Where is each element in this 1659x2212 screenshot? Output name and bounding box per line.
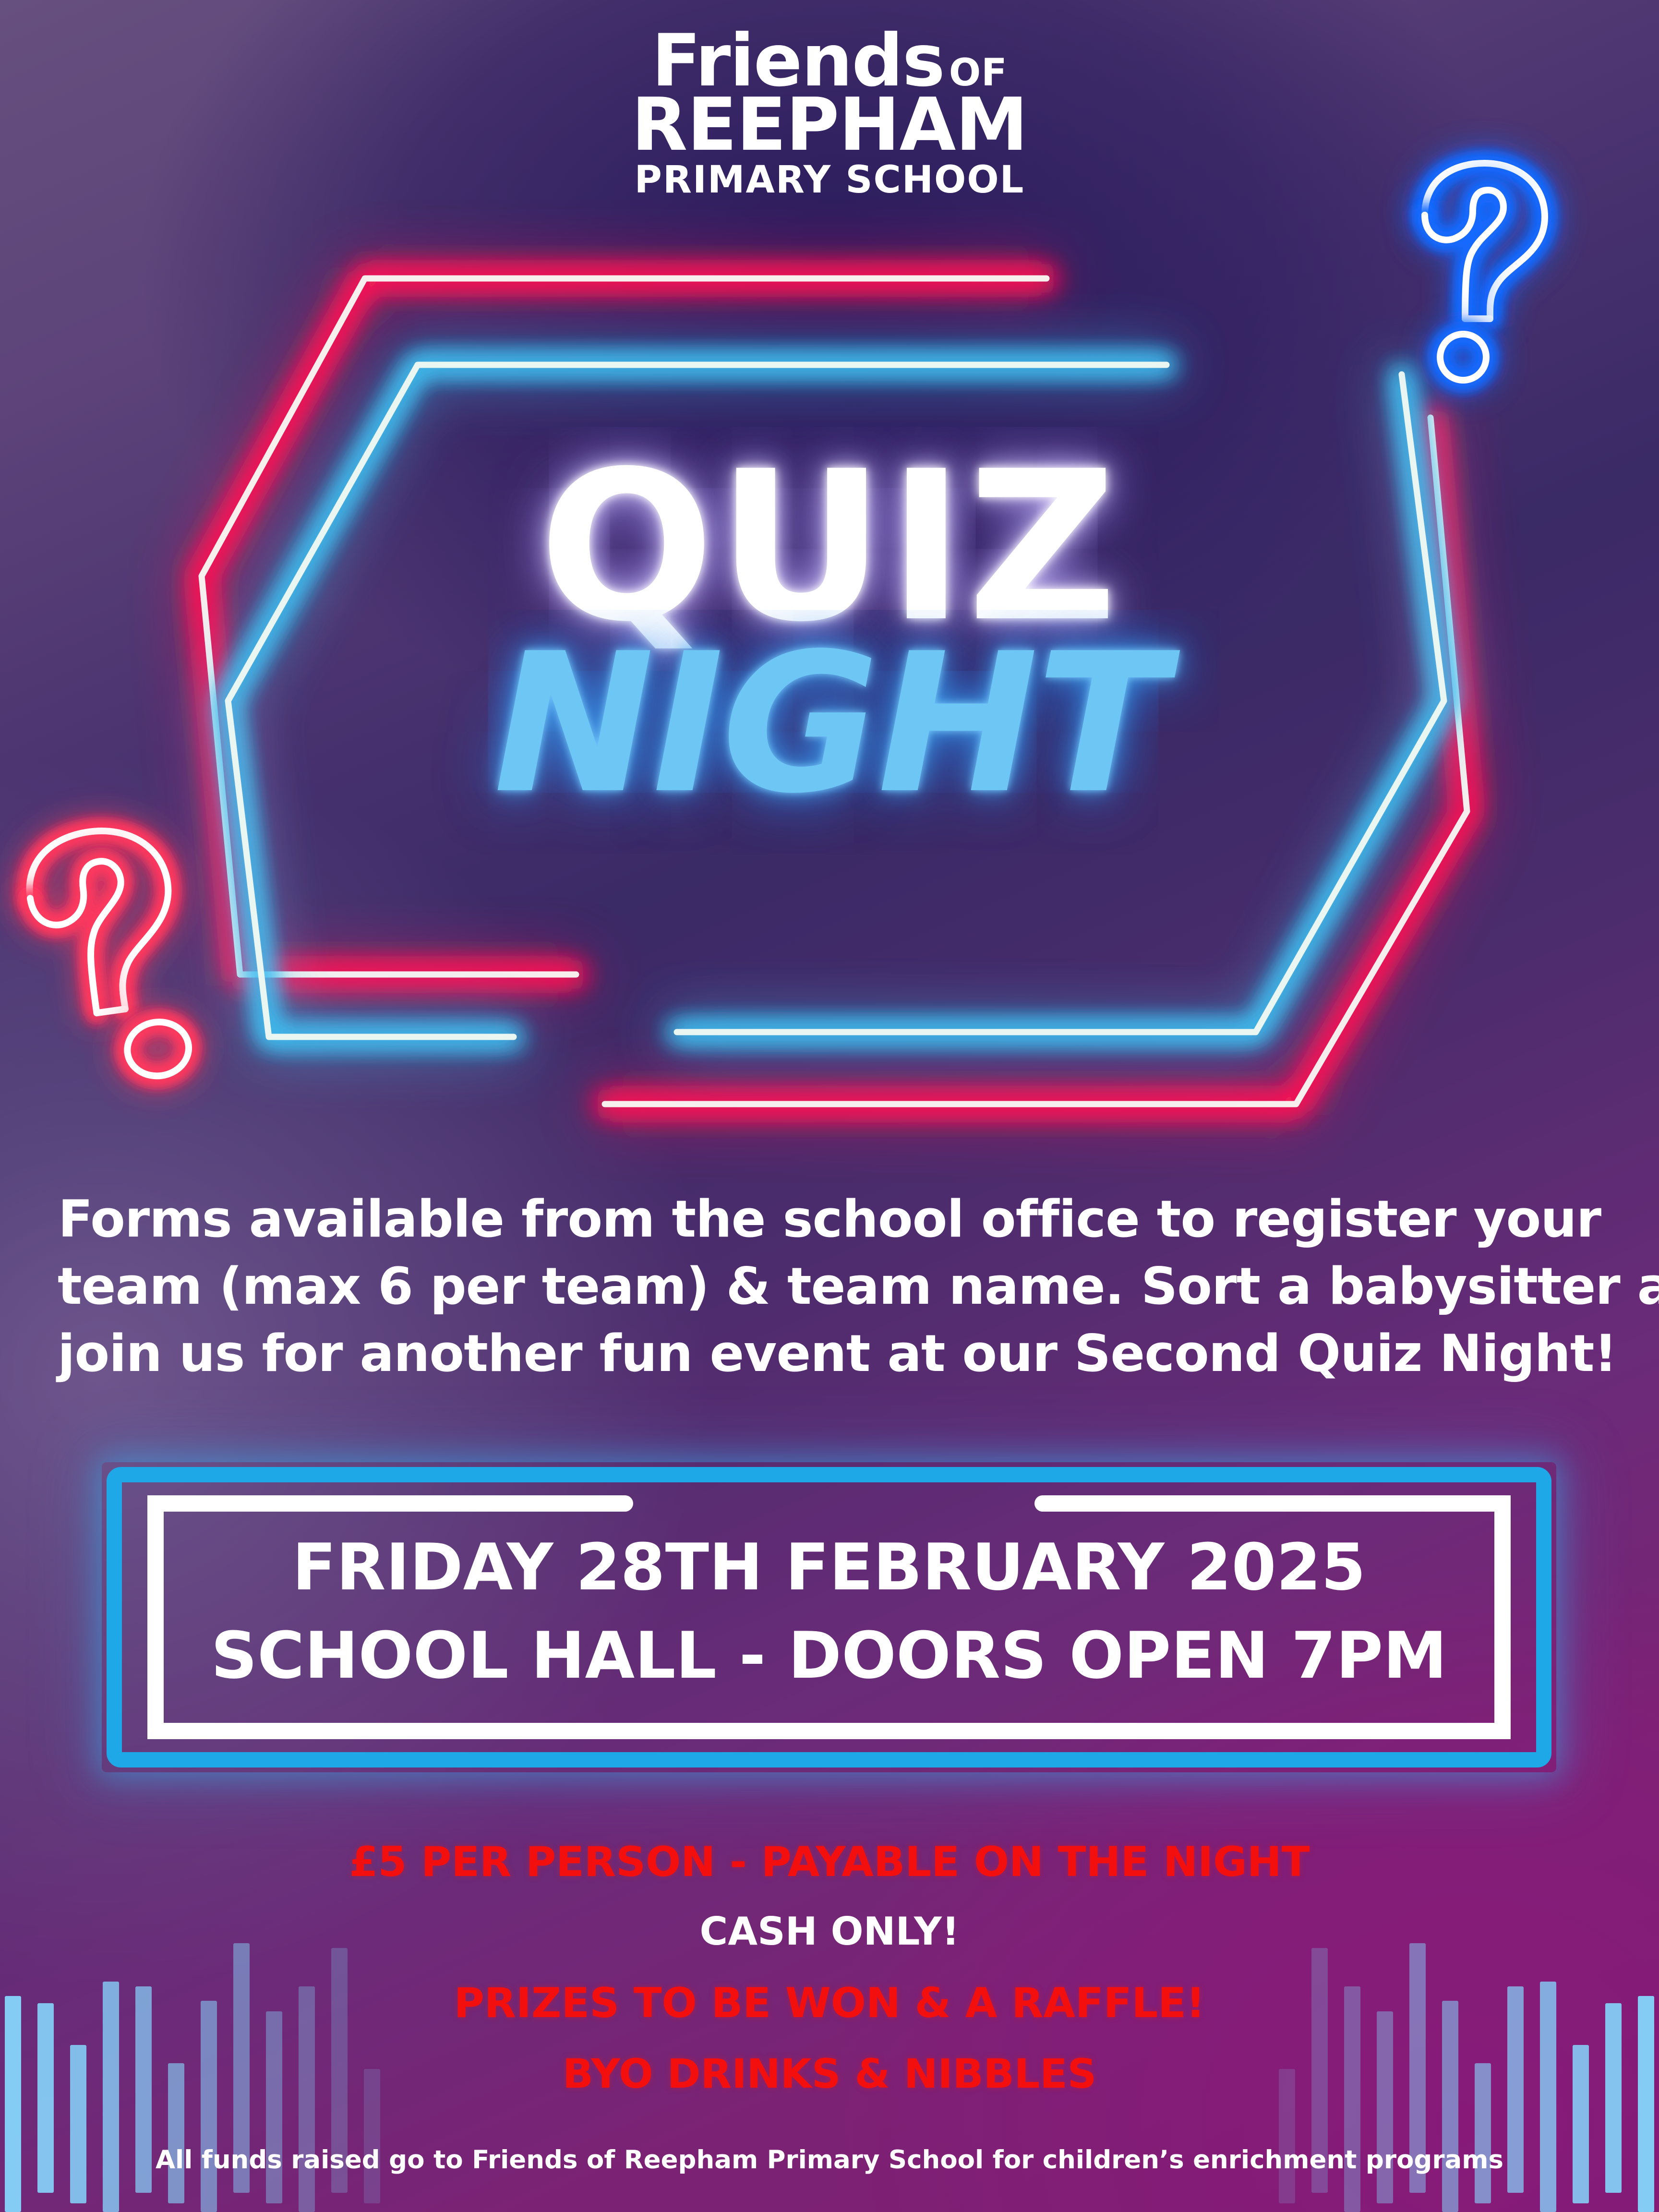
promo-prizes: PRIZES TO BE WON & A RAFFLE! (0, 1983, 1659, 2024)
date-line: FRIDAY 28TH FEBRUARY 2025 (102, 1524, 1556, 1612)
description-line-2: team (max 6 per team) & team name. Sort … (58, 1253, 1601, 1320)
description-line-1: Forms available from the school office t… (58, 1186, 1601, 1253)
venue-line: SCHOOL HALL - DOORS OPEN 7PM (102, 1612, 1556, 1700)
hexagon-inner-cyan (228, 365, 1444, 1037)
description-line-3: join us for another fun event at our Sec… (58, 1320, 1601, 1387)
event-description: Forms available from the school office t… (58, 1186, 1601, 1387)
promo-byo: BYO DRINKS & NIBBLES (0, 2054, 1659, 2094)
funds-footer: All funds raised go to Friends of Reepha… (0, 2145, 1659, 2175)
promo-cash-only: CASH ONLY! (0, 1912, 1659, 1951)
date-venue-text: FRIDAY 28TH FEBRUARY 2025 SCHOOL HALL - … (102, 1524, 1556, 1700)
logo-line-reepham: REEPHAM (0, 90, 1659, 159)
question-mark-icon-bottom-left (0, 773, 260, 1127)
organisation-logo: FriendsOF REEPHAM PRIMARY SCHOOL (0, 25, 1659, 199)
logo-line-primary-school: PRIMARY SCHOOL (0, 161, 1659, 199)
promo-details: £5 PER PERSON - PAYABLE ON THE NIGHT CAS… (0, 1841, 1659, 2094)
poster-canvas: FriendsOF REEPHAM PRIMARY SCHOOL (0, 0, 1659, 2212)
promo-price: £5 PER PERSON - PAYABLE ON THE NIGHT (0, 1841, 1659, 1883)
hexagon-svg (0, 269, 1659, 1138)
question-mark-svg-red (0, 773, 260, 1127)
date-venue-box: FRIDAY 28TH FEBRUARY 2025 SCHOOL HALL - … (102, 1462, 1556, 1772)
neon-hexagon-frames (0, 269, 1659, 1138)
